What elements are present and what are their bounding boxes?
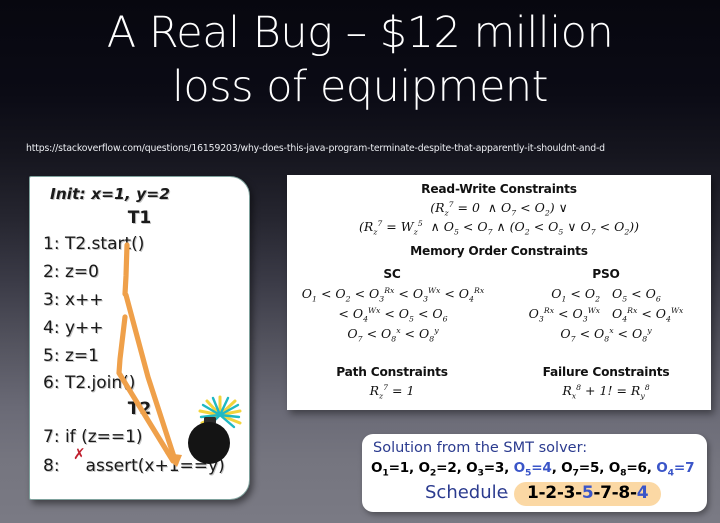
code-line-3: 3: x++ <box>43 290 104 310</box>
solution-card: Solution from the SMT solver: O1=1, O2=2… <box>362 434 707 512</box>
code-line-6-code: T2.join() <box>65 373 136 393</box>
code-panel: Init: x=1, y=2 T1 1: T2.start() 2: z=0 3… <box>29 176 250 500</box>
code-line-1: 1: T2.start() <box>43 234 144 254</box>
code-line-7: 7: if (z==1) <box>43 427 143 447</box>
code-line-1-num: 1: <box>43 234 60 254</box>
init-line: Init: x=1, y=2 <box>50 185 170 203</box>
schedule-colon: : <box>505 488 509 501</box>
code-line-2-num: 2: <box>43 262 60 282</box>
code-line-6: 6: T2.join() <box>43 373 135 393</box>
read-write-formula-line-2: (Rz7 = Wz5 ∧ O5 < O7 ∧ (O2 < O5 ∨ O7 < O… <box>287 218 711 238</box>
sc-column-label: SC <box>297 267 487 281</box>
code-line-4: 4: y++ <box>43 318 104 338</box>
code-line-4-num: 4: <box>43 318 60 338</box>
code-line-2: 2: z=0 <box>43 262 99 282</box>
read-write-formula-line-1: (Rz7 = 0 ∧ O7 < O2) ∨ <box>287 199 711 219</box>
source-url-text: https://stackoverflow.com/questions/1615… <box>26 143 702 154</box>
code-line-5: 5: z=1 <box>43 346 99 366</box>
sc-formula-body: O1 < O2 < O3Rx < O3Wx < O4Rx< O4Wx < O5 … <box>293 285 493 345</box>
memory-order-constraints-heading: Memory Order Constraints <box>287 244 711 258</box>
bomb-explosion-icon <box>180 395 242 467</box>
solution-title: Solution from the SMT solver: <box>373 440 587 456</box>
pso-column-label: PSO <box>511 267 701 281</box>
code-line-2-code: z=0 <box>65 262 99 282</box>
code-line-4-code: y++ <box>65 318 104 338</box>
path-formula-body: Rz7 = 1 <box>297 382 487 402</box>
schedule-pill: 1-2-3-5-7-8-4 <box>514 482 661 506</box>
slide-canvas: A Real Bug – $12 million loss of equipme… <box>0 0 720 523</box>
path-constraints-heading: Path Constraints <box>297 365 487 379</box>
code-line-5-code: z=1 <box>65 346 99 366</box>
code-line-3-num: 3: <box>43 290 60 310</box>
code-line-1-code: T2.start() <box>65 234 144 254</box>
code-line-7-num: 7: <box>43 427 60 447</box>
failure-formula-body: Rx8 + 1! = Ry8 <box>511 382 701 402</box>
thread-t1-label: T1 <box>30 208 249 228</box>
pso-formula-body: O1 < O2 O5 < O6O3Rx < O3Wx O4Rx < O4WxO7… <box>505 285 707 345</box>
code-line-3-code: x++ <box>65 290 104 310</box>
code-line-5-num: 5: <box>43 346 60 366</box>
constraints-panel: Read-Write Constraints (Rz7 = 0 ∧ O7 < O… <box>287 175 711 410</box>
read-write-constraints-heading: Read-Write Constraints <box>287 182 711 196</box>
code-line-6-num: 6: <box>43 373 60 393</box>
slide-title: A Real Bug – $12 million loss of equipme… <box>0 6 720 114</box>
code-line-7-code: if (z==1) <box>65 427 143 447</box>
assertion-fail-x-icon: ✗ <box>73 445 86 463</box>
solution-values: O1=1, O2=2, O3=3, O5=4, O7=5, O8=6, O4=7 <box>371 460 694 479</box>
failure-constraints-heading: Failure Constraints <box>511 365 701 379</box>
code-line-8-num: 8: <box>43 456 60 476</box>
schedule-label: Schedule <box>425 482 508 503</box>
